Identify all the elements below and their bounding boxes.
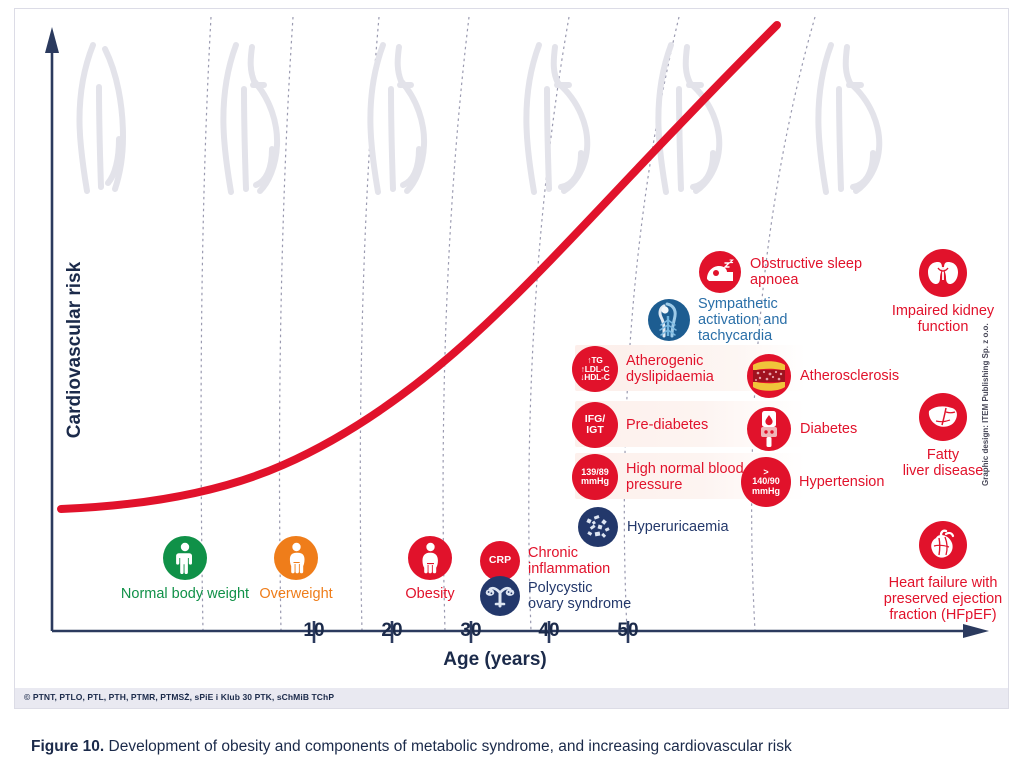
outcome-label-impaired-kidney-function: Impaired kidney function (892, 303, 994, 335)
heart-icon (919, 521, 967, 569)
crp-badge-icon: CRP (480, 541, 520, 581)
person-normal-icon (163, 536, 207, 580)
condition-obstructive-sleep-apnoea[interactable]: Obstructive sleep apnoea (699, 251, 862, 293)
glucometer-icon (747, 407, 791, 451)
condition-atherogenic-dyslipidaemia[interactable]: ↑TG ↑LDL-C ↓HDL-C Atherogenic dyslipidae… (572, 346, 714, 392)
credits-band: © PTNT, PTLO, PTL, PTH, PTMR, PTMSŻ, sPi… (14, 688, 1009, 709)
condition-high-normal-blood-pressure[interactable]: 139/89 mmHg High normal blood pressure (572, 454, 744, 500)
outcome-label-hfpef: Heart failure with preserved ejection fr… (884, 575, 1003, 624)
figure-root: Cardiovascular risk Age (years) 10 20 30… (0, 0, 1023, 771)
outcome-label-fatty-liver-disease: Fatty liver disease (903, 447, 984, 479)
condition-label-diabetes: Diabetes (800, 421, 857, 437)
figure-caption: Figure 10. Development of obesity and co… (31, 738, 1006, 757)
condition-diabetes[interactable]: Diabetes (747, 407, 857, 451)
chart-card: Cardiovascular risk Age (years) 10 20 30… (14, 8, 1009, 708)
condition-label-obstructive-sleep-apnoea: Obstructive sleep apnoea (750, 256, 862, 288)
condition-label-hyperuricaemia: Hyperuricaemia (627, 519, 729, 535)
condition-sympathetic-activation[interactable]: Sympathetic activation and tachycardia (648, 296, 787, 345)
figure-caption-text: Development of obesity and components of… (104, 738, 792, 755)
outcome-hfpef[interactable]: Heart failure with preserved ejection fr… (869, 521, 1010, 624)
y-axis (45, 27, 59, 631)
stage-label-obesity: Obesity (405, 586, 454, 602)
x-tick-40: 40 (529, 620, 569, 642)
condition-label-atherosclerosis: Atherosclerosis (800, 368, 899, 384)
crp-text: CRP (489, 555, 511, 566)
bp-unit-line: mmHg (581, 477, 609, 486)
bp-high-unit: mmHg (752, 487, 780, 496)
person-obese-icon (408, 536, 452, 580)
igt-line: IGT (585, 425, 605, 436)
x-axis-label: Age (years) (395, 649, 595, 671)
figure-caption-number: Figure 10. (31, 738, 104, 755)
liver-icon (919, 393, 967, 441)
bp-badge-icon: 139/89 mmHg (572, 454, 618, 500)
stage-overweight[interactable]: Overweight (221, 536, 371, 602)
condition-polycystic-ovary-syndrome[interactable]: Polycystic ovary syndrome (480, 576, 631, 616)
stage-label-overweight: Overweight (259, 586, 332, 602)
condition-pre-diabetes[interactable]: IFG/ IGT Pre-diabetes (572, 402, 708, 448)
condition-label-polycystic-ovary-syndrome: Polycystic ovary syndrome (528, 580, 631, 612)
lipids-badge-icon: ↑TG ↑LDL-C ↓HDL-C (572, 346, 618, 392)
x-tick-10: 10 (294, 620, 334, 642)
artery-plaque-icon (747, 354, 791, 398)
x-tick-20: 20 (372, 620, 412, 642)
bp-high-badge-icon: > 140/90 mmHg (741, 457, 791, 507)
credits-text: © PTNT, PTLO, PTL, PTH, PTMR, PTMSŻ, sPi… (24, 692, 334, 702)
sleep-apnoea-icon (699, 251, 741, 293)
person-overweight-icon (274, 536, 318, 580)
condition-label-chronic-inflammation: Chronic inflammation (528, 545, 610, 577)
x-axis (52, 621, 989, 643)
nervous-system-icon (648, 299, 690, 341)
x-tick-50: 50 (608, 620, 648, 642)
condition-label-high-normal-blood-pressure: High normal blood pressure (626, 461, 744, 493)
condition-chronic-inflammation[interactable]: CRP Chronic inflammation (480, 541, 610, 581)
silhouette-row (80, 45, 880, 192)
uterus-icon (480, 576, 520, 616)
kidneys-icon (919, 249, 967, 297)
condition-label-pre-diabetes: Pre-diabetes (626, 417, 708, 433)
x-tick-30: 30 (451, 620, 491, 642)
y-axis-label: Cardiovascular risk (64, 230, 86, 470)
condition-atherosclerosis[interactable]: Atherosclerosis (747, 354, 899, 398)
graphic-design-credit: Graphic design: ITEM Publishing Sp. z o.… (981, 286, 990, 486)
condition-label-atherogenic-dyslipidaemia: Atherogenic dyslipidaemia (626, 353, 714, 385)
ifg-igt-badge-icon: IFG/ IGT (572, 402, 618, 448)
condition-hypertension[interactable]: > 140/90 mmHg Hypertension (741, 457, 884, 507)
lipid-line-hdl: ↓HDL-C (580, 373, 610, 382)
plot-area: Cardiovascular risk Age (years) 10 20 30… (15, 9, 1010, 709)
condition-label-sympathetic-activation: Sympathetic activation and tachycardia (698, 296, 787, 345)
